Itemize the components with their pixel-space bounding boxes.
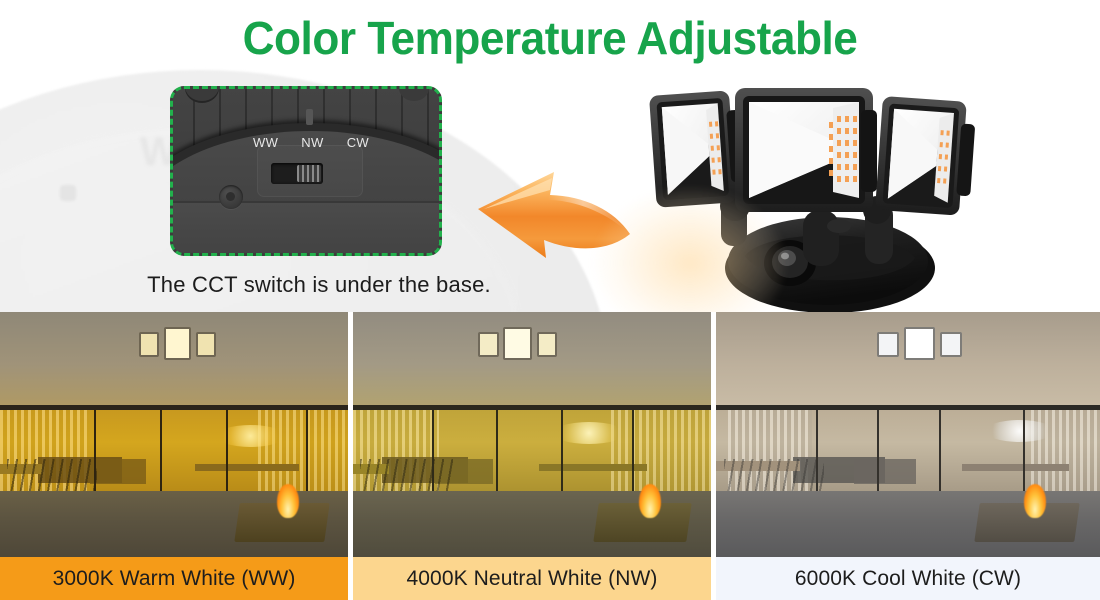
panel-label-cool: 6000K Cool White (CW): [795, 567, 1021, 591]
floodlight-base-underside: WW NW CW: [173, 89, 439, 253]
panel-label-band-warm: 3000K Warm White (WW): [0, 557, 348, 600]
mounted-floodlight: [877, 327, 961, 366]
cct-switch-labels: WW NW CW: [253, 135, 369, 150]
infographic-page: W Color Temperature Adjustable WW NW CW: [0, 0, 1100, 600]
switch-caption: The CCT switch is under the base.: [104, 272, 534, 298]
cct-label-nw: NW: [301, 135, 323, 150]
scene-photo-neutral-white: [353, 312, 711, 557]
panel-label-band-neutral: 4000K Neutral White (NW): [353, 557, 711, 600]
panel-cool-white: 6000K Cool White (CW): [716, 312, 1100, 600]
fire-pit-flame: [639, 484, 661, 518]
background-ghost-dot: [60, 185, 76, 201]
cct-slider-knob[interactable]: [297, 165, 321, 182]
cct-label-ww: WW: [253, 135, 278, 150]
panel-neutral-white: 4000K Neutral White (NW): [353, 312, 711, 600]
color-temperature-comparison-panels: 3000K Warm White (WW): [0, 312, 1100, 600]
housing-base-plate: [173, 201, 439, 253]
housing-tab: [306, 109, 313, 125]
product-floodlight-image: [625, 78, 1025, 313]
cct-switch-detail-inset: WW NW CW: [170, 86, 442, 256]
panel-label-band-cool: 6000K Cool White (CW): [716, 557, 1100, 600]
panel-label-warm: 3000K Warm White (WW): [53, 567, 296, 591]
fire-pit-flame: [277, 484, 299, 518]
fire-pit-flame: [1024, 484, 1046, 518]
mounted-floodlight: [478, 327, 557, 366]
cct-label-cw: CW: [347, 135, 369, 150]
scene-photo-cool-white: [716, 312, 1100, 557]
page-title: Color Temperature Adjustable: [22, 14, 1078, 62]
cct-slider-track[interactable]: [271, 163, 323, 184]
mounted-floodlight: [139, 327, 216, 366]
panel-warm-white: 3000K Warm White (WW): [0, 312, 348, 600]
screw-icon: [219, 185, 243, 209]
scene-photo-warm-white: [0, 312, 348, 557]
panel-label-neutral: 4000K Neutral White (NW): [407, 567, 658, 591]
